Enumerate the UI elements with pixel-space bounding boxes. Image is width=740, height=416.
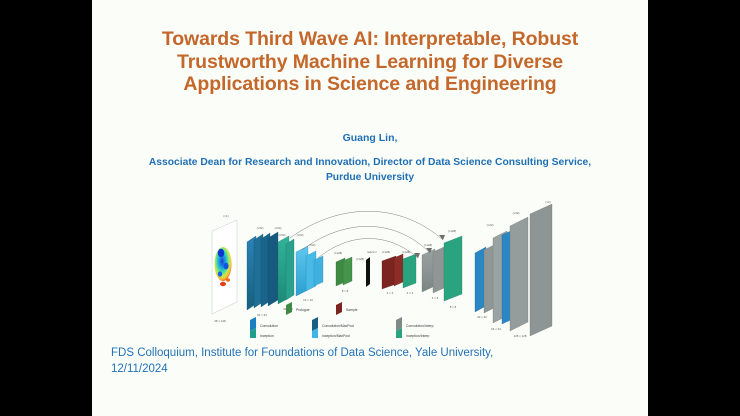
legend-label-inception: Inception: [260, 334, 274, 338]
legend-label-convolution-interp: Convolution/Interp: [406, 324, 434, 328]
encoder-stack: 64 × 64 32 × 32 (×32) (×64) (×64) (×64) …: [247, 226, 410, 317]
slide-title: Towards Third Wave AI: Interpretable, Ro…: [100, 28, 640, 96]
input-plane: (×1) 28 × 128: [212, 214, 237, 323]
label-enc-size-4: 8 × 8: [342, 289, 349, 293]
label-out-size-1: 32 × 32: [477, 315, 487, 319]
label-dec-size-1: 4 × 4: [387, 291, 394, 295]
letterbox-right: [648, 0, 740, 416]
diagram-legend: Prologue Sample Convolution Convolution/…: [250, 302, 434, 338]
label-dec-size-3: 4 × 4: [432, 296, 439, 300]
legend-label-prologue: Prologue: [296, 308, 310, 312]
presentation-slide: Towards Third Wave AI: Interpretable, Ro…: [92, 0, 648, 416]
decoder-stack: 4 × 4 4 × 4 (×128) 8 × 8 (×128): [403, 229, 462, 309]
label-enc-ch-6: (×128): [334, 251, 342, 255]
title-line-3: Applications in Science and Engineering: [100, 73, 640, 96]
label-out-size-2: 64 × 64: [491, 327, 501, 331]
output-stack: 32 × 32 64 × 64 128 × 128 (×32) (×32) (×…: [475, 200, 552, 338]
video-frame: Towards Third Wave AI: Interpretable, Ro…: [0, 0, 740, 416]
legend-label-inception-maxpool: Inception/MaxPool: [322, 334, 350, 338]
label-enc-ch-4: (×64): [297, 233, 304, 237]
label-enc-ch-5: (×64): [309, 243, 316, 247]
label-dec-ch-2: (×128): [402, 250, 410, 254]
affiliation-line-1: Associate Dean for Research and Innovati…: [96, 155, 644, 170]
title-line-1: Towards Third Wave AI: Interpretable, Ro…: [100, 28, 640, 51]
label-dec-ch-3: (×128): [424, 243, 432, 247]
legend-label-convolution-maxpool: Convolution/MaxPool: [322, 324, 354, 328]
label-out-ch-2: (×32): [513, 211, 520, 215]
label-enc-size-3: 16 × 16: [303, 298, 313, 302]
label-input-size: 28 × 128: [214, 319, 226, 323]
letterbox-left: [0, 0, 92, 416]
legend-label-sample: Sample: [346, 308, 358, 312]
label-dec-ch-4: (×128): [448, 229, 456, 233]
label-enc-ch-2: (×64): [275, 226, 282, 230]
footer-line-2: 12/11/2024: [111, 361, 631, 377]
label-out-size-3: 128 × 128: [514, 334, 527, 338]
label-out-ch-3: (×2): [545, 200, 550, 204]
slide-footer: FDS Colloquium, Institute for Foundation…: [111, 345, 631, 377]
label-dec-size-4: 8 × 8: [450, 305, 457, 309]
label-enc-ch-1: (×32): [257, 226, 264, 230]
architecture-diagram: (×1) 28 × 128 64 × 64 32 × 32 (×32): [190, 198, 562, 338]
label-out-ch-1: (×32): [487, 223, 494, 227]
label-enc-ch-7: (×128): [356, 257, 364, 261]
label-dec-ch-1: (×128): [382, 250, 390, 254]
author-name: Guang Lin,: [100, 132, 640, 144]
legend-label-convolution: Convolution: [260, 324, 278, 328]
title-line-2: Trustworthy Machine Learning for Diverse: [100, 51, 640, 74]
legend-label-inception-interp: Inception/Interp: [406, 334, 429, 338]
label-enc-ch-3: (×64): [279, 233, 286, 237]
footer-line-1: FDS Colloquium, Institute for Foundation…: [111, 345, 631, 361]
label-latent: latent z: [367, 250, 377, 254]
label-dec-size-2: 4 × 4: [407, 291, 414, 295]
affiliation-line-2: Purdue University: [96, 170, 644, 185]
label-enc-size-1: 64 × 64: [257, 313, 267, 317]
author-affiliation: Associate Dean for Research and Innovati…: [96, 155, 644, 185]
label-input-channels: (×1): [223, 214, 228, 218]
